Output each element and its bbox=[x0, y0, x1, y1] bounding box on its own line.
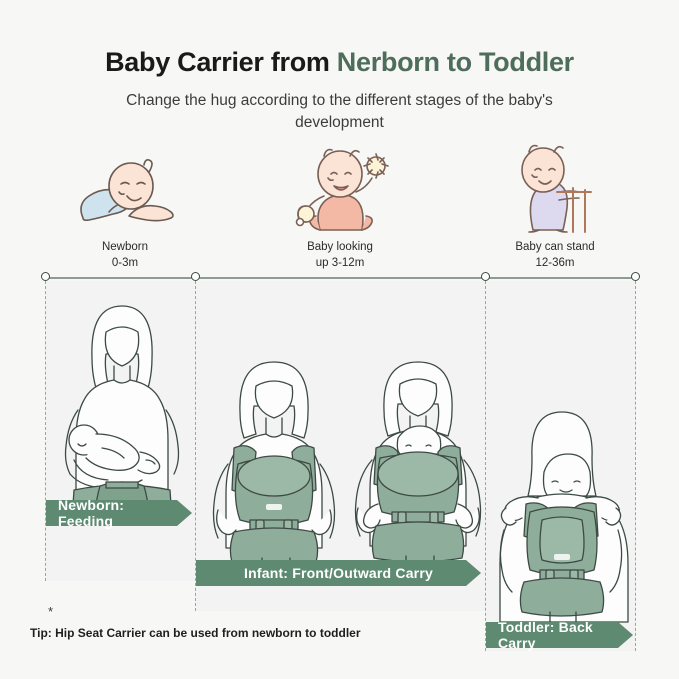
stage-label-looking-up: Baby looking up 3-12m bbox=[260, 240, 420, 271]
figure-back-carry bbox=[490, 402, 632, 624]
ribbon-label-newborn: Newborn: Feeding bbox=[58, 497, 177, 529]
ribbon-arrow-icon bbox=[466, 560, 481, 586]
stage-label-can-stand: Baby can stand 12-36m bbox=[475, 240, 635, 271]
column-divider-3 bbox=[635, 281, 636, 651]
footnote-asterisk: * bbox=[48, 604, 53, 619]
stage-item-newborn: Newborn 0-3m bbox=[45, 142, 205, 271]
stage-item-can-stand: Baby can stand 12-36m bbox=[475, 142, 635, 271]
footnote-tip-text: Tip: Hip Seat Carrier can be used from n… bbox=[30, 626, 361, 640]
timeline-node-0 bbox=[41, 272, 50, 281]
figure-outward-carry bbox=[348, 352, 488, 564]
page-title-plain: Baby Carrier from bbox=[105, 47, 337, 77]
ribbon-arrow-icon bbox=[618, 622, 633, 648]
page-subtitle: Change the hug according to the differen… bbox=[110, 90, 569, 135]
page-title: Baby Carrier from Nerborn to Toddler bbox=[0, 48, 679, 78]
stage-label-newborn: Newborn 0-3m bbox=[45, 240, 205, 271]
ribbon-newborn-feeding[interactable]: Newborn: Feeding bbox=[46, 500, 177, 526]
newborn-lying-baby-icon bbox=[45, 142, 205, 234]
stage-item-looking-up: Baby looking up 3-12m bbox=[260, 142, 420, 271]
ribbon-label-toddler: Toddler: Back Carry bbox=[498, 619, 618, 651]
stage-icons-row: Newborn 0-3m bbox=[0, 142, 679, 242]
figure-newborn-feeding bbox=[48, 292, 196, 522]
timeline-axis bbox=[45, 277, 635, 279]
sitting-baby-with-rattle-icon bbox=[260, 142, 420, 234]
timeline-node-2 bbox=[481, 272, 490, 281]
ribbon-arrow-icon bbox=[177, 500, 192, 526]
standing-toddler-icon bbox=[475, 142, 635, 234]
infographic-canvas: Baby Carrier from Nerborn to Toddler Cha… bbox=[0, 0, 679, 679]
timeline-node-3 bbox=[631, 272, 640, 281]
page-title-accent: Nerborn to Toddler bbox=[337, 47, 574, 77]
figure-front-carry bbox=[204, 352, 344, 564]
ribbon-toddler-back-carry[interactable]: Toddler: Back Carry bbox=[486, 622, 618, 648]
ribbon-label-infant: Infant: Front/Outward Carry bbox=[244, 565, 433, 581]
timeline-node-1 bbox=[191, 272, 200, 281]
ribbon-infant-carry[interactable]: Infant: Front/Outward Carry bbox=[196, 560, 466, 586]
